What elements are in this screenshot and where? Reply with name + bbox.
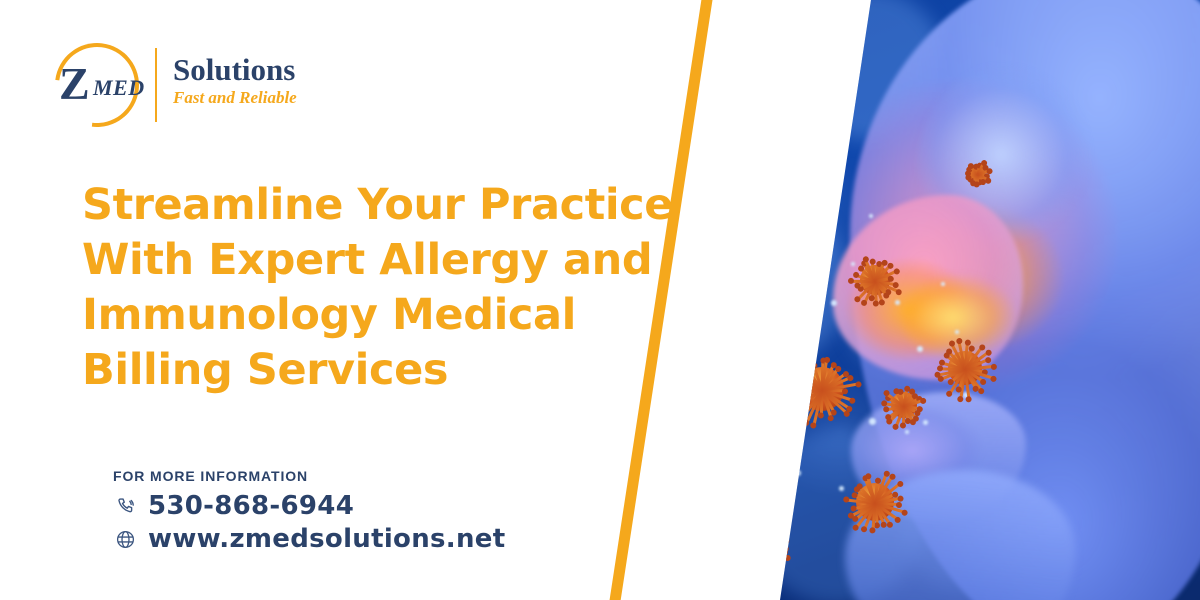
contact-label: FOR MORE INFORMATION [113, 468, 505, 484]
glow-speck [795, 470, 801, 476]
logo-text-block: Solutions Fast and Reliable [173, 54, 297, 108]
glow-speck [805, 372, 811, 378]
headline-line: With Expert Allergy and [82, 233, 722, 288]
phone-number: 530-868-6944 [148, 491, 354, 521]
glow-speck [869, 214, 873, 218]
logo-divider [155, 48, 157, 122]
glow-speck [741, 318, 745, 322]
glow-speck [727, 392, 732, 397]
glow-speck [783, 404, 787, 408]
brand-tagline: Fast and Reliable [173, 88, 297, 108]
brand-name: Solutions [173, 54, 297, 87]
headline-line: Billing Services [82, 343, 722, 398]
website-url: www.zmedsolutions.net [148, 524, 505, 554]
logo-letter-z: Z [59, 61, 90, 107]
headline-line: Streamline Your Practice [82, 178, 722, 233]
contact-website-row[interactable]: www.zmedsolutions.net [113, 524, 505, 554]
zmed-circle-logo-icon: Z MED [55, 43, 139, 127]
glow-speck [713, 498, 717, 502]
glow-speck [823, 204, 828, 209]
glow-speck [765, 330, 770, 335]
headline-line: Immunology Medical [82, 288, 722, 343]
media-panel [655, 0, 1200, 600]
virus-particle-icon [763, 330, 881, 448]
virus-particle-icon [743, 520, 803, 580]
promo-banner: Z MED Solutions Fast and Reliable Stream… [0, 0, 1200, 600]
glow-speck [941, 282, 945, 286]
virus-particle-icon [833, 238, 917, 322]
headline: Streamline Your Practice With Expert All… [82, 178, 722, 398]
contact-phone-row[interactable]: 530-868-6944 [113, 491, 505, 521]
brand-logo[interactable]: Z MED Solutions Fast and Reliable [45, 40, 345, 140]
glow-speck [775, 250, 779, 254]
globe-icon [113, 527, 137, 551]
virus-particle-icon [917, 320, 1013, 416]
virus-particle-icon [955, 150, 1001, 196]
glow-speck [751, 460, 756, 465]
contact-block: FOR MORE INFORMATION 530-868-6944 www.zm… [113, 468, 505, 554]
logo-word-med: MED [93, 77, 145, 99]
virus-particle-icon [823, 450, 927, 554]
phone-icon [113, 494, 137, 518]
media-background [655, 0, 1200, 600]
